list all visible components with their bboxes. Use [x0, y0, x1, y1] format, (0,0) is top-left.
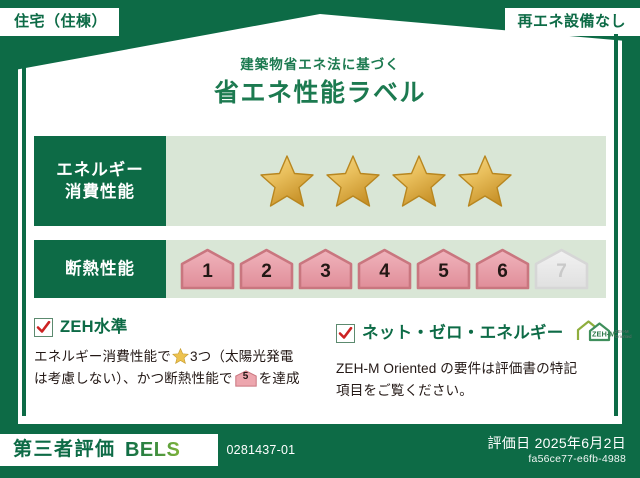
check-icon	[36, 320, 51, 335]
insulation-performance-row: 断熱性能 1234567	[34, 240, 606, 298]
zeh-standard-text-part1: エネルギー消費性能で	[34, 349, 171, 364]
zeh-standard-header: ZEH水準	[34, 318, 304, 337]
energy-performance-label-line2: 消費性能	[65, 181, 135, 203]
insulation-grade-value: 4	[379, 262, 390, 290]
net-zero-energy-checkbox[interactable]	[336, 324, 355, 343]
check-icon	[338, 326, 353, 341]
zeh-standard-text-part3: を達成	[259, 371, 300, 386]
insulation-grade-4: 4	[357, 248, 412, 290]
insulation-grade-value: 3	[320, 262, 331, 290]
insulation-grade-5: 5	[416, 248, 471, 290]
insulation-grade-scale: 1234567	[166, 240, 606, 298]
insulation-grade-value: 6	[497, 262, 508, 290]
insulation-grade-inline-badge: 5	[235, 370, 257, 394]
evaluation-date: 評価日 2025年6月2日	[487, 434, 626, 452]
star-icon	[172, 348, 189, 364]
insulation-grade-7: 7	[534, 248, 589, 290]
svg-text:ZEH-M: ZEH-M	[592, 330, 615, 339]
insulation-grade-value: 1	[202, 262, 213, 290]
net-zero-energy-header: ネット・ゼロ・エネルギー ZEH-M ZEH-M Oriented	[336, 318, 590, 349]
star-icon	[259, 154, 315, 208]
zeh-standard-description: エネルギー消費性能で3つ（太陽光発電は考慮しない）、かつ断熱性能で5を達成	[34, 346, 304, 394]
svg-text:BELS: BELS	[125, 439, 180, 460]
zeh-m-logo: ZEH-M ZEH-M Oriented	[575, 318, 633, 349]
bels-logo: BELS	[125, 439, 207, 460]
insulation-performance-label-text: 断熱性能	[65, 258, 135, 280]
zeh-standard-title: ZEH水準	[60, 319, 128, 336]
insulation-grade-2: 2	[239, 248, 294, 290]
building-type-tag: 住宅（住棟）	[0, 8, 119, 36]
insulation-grade-1: 1	[180, 248, 235, 290]
insulation-grade-6: 6	[475, 248, 530, 290]
bels-certificate-number: 0281437-01	[227, 443, 296, 457]
net-zero-energy-column: ネット・ゼロ・エネルギー ZEH-M ZEH-M Oriented ZEH-M …	[320, 318, 606, 402]
star-icon	[391, 154, 447, 208]
energy-performance-row: エネルギー 消費性能	[34, 136, 606, 226]
evaluation-info: 評価日 2025年6月2日 fa56ce77-e6fb-4988	[487, 434, 626, 468]
energy-performance-label: 住宅（住棟） 再エネ設備なし 建築物省エネ法に基づく 省エネ性能ラベル エネルギ…	[0, 0, 640, 478]
energy-performance-label: エネルギー 消費性能	[34, 136, 166, 226]
evaluation-hash: fa56ce77-e6fb-4988	[487, 452, 626, 468]
star-icon	[457, 154, 513, 208]
energy-star-rating	[166, 136, 606, 226]
label-subtitle: 建築物省エネ法に基づく	[0, 58, 640, 72]
bels-footer: 第三者評価 BELS 0281437-01	[0, 434, 295, 466]
third-party-evaluation-label: 第三者評価	[13, 440, 116, 459]
bels-badge: 第三者評価 BELS	[0, 434, 218, 466]
insulation-grade-value: 2	[261, 262, 272, 290]
insulation-performance-label: 断熱性能	[34, 240, 166, 298]
insulation-grade-value: 5	[438, 262, 449, 290]
net-zero-energy-title: ネット・ゼロ・エネルギー	[362, 325, 564, 342]
renewable-energy-tag: 再エネ設備なし	[505, 8, 640, 36]
energy-performance-label-line1: エネルギー	[56, 159, 144, 181]
title-block: 建築物省エネ法に基づく 省エネ性能ラベル	[0, 58, 640, 106]
net-zero-energy-description: ZEH-M Oriented の要件は評価書の特記項目をご覧ください。	[336, 358, 590, 402]
star-icon	[325, 154, 381, 208]
insulation-grade-3: 3	[298, 248, 353, 290]
zeh-standard-checkbox[interactable]	[34, 318, 53, 337]
insulation-grade-inline-value: 5	[235, 370, 257, 387]
criteria-columns: ZEH水準 エネルギー消費性能で3つ（太陽光発電は考慮しない）、かつ断熱性能で5…	[34, 318, 606, 402]
zeh-standard-column: ZEH水準 エネルギー消費性能で3つ（太陽光発電は考慮しない）、かつ断熱性能で5…	[34, 318, 320, 402]
label-title: 省エネ性能ラベル	[0, 81, 640, 106]
svg-text:Oriented: Oriented	[615, 334, 632, 339]
insulation-grade-value: 7	[556, 262, 567, 290]
